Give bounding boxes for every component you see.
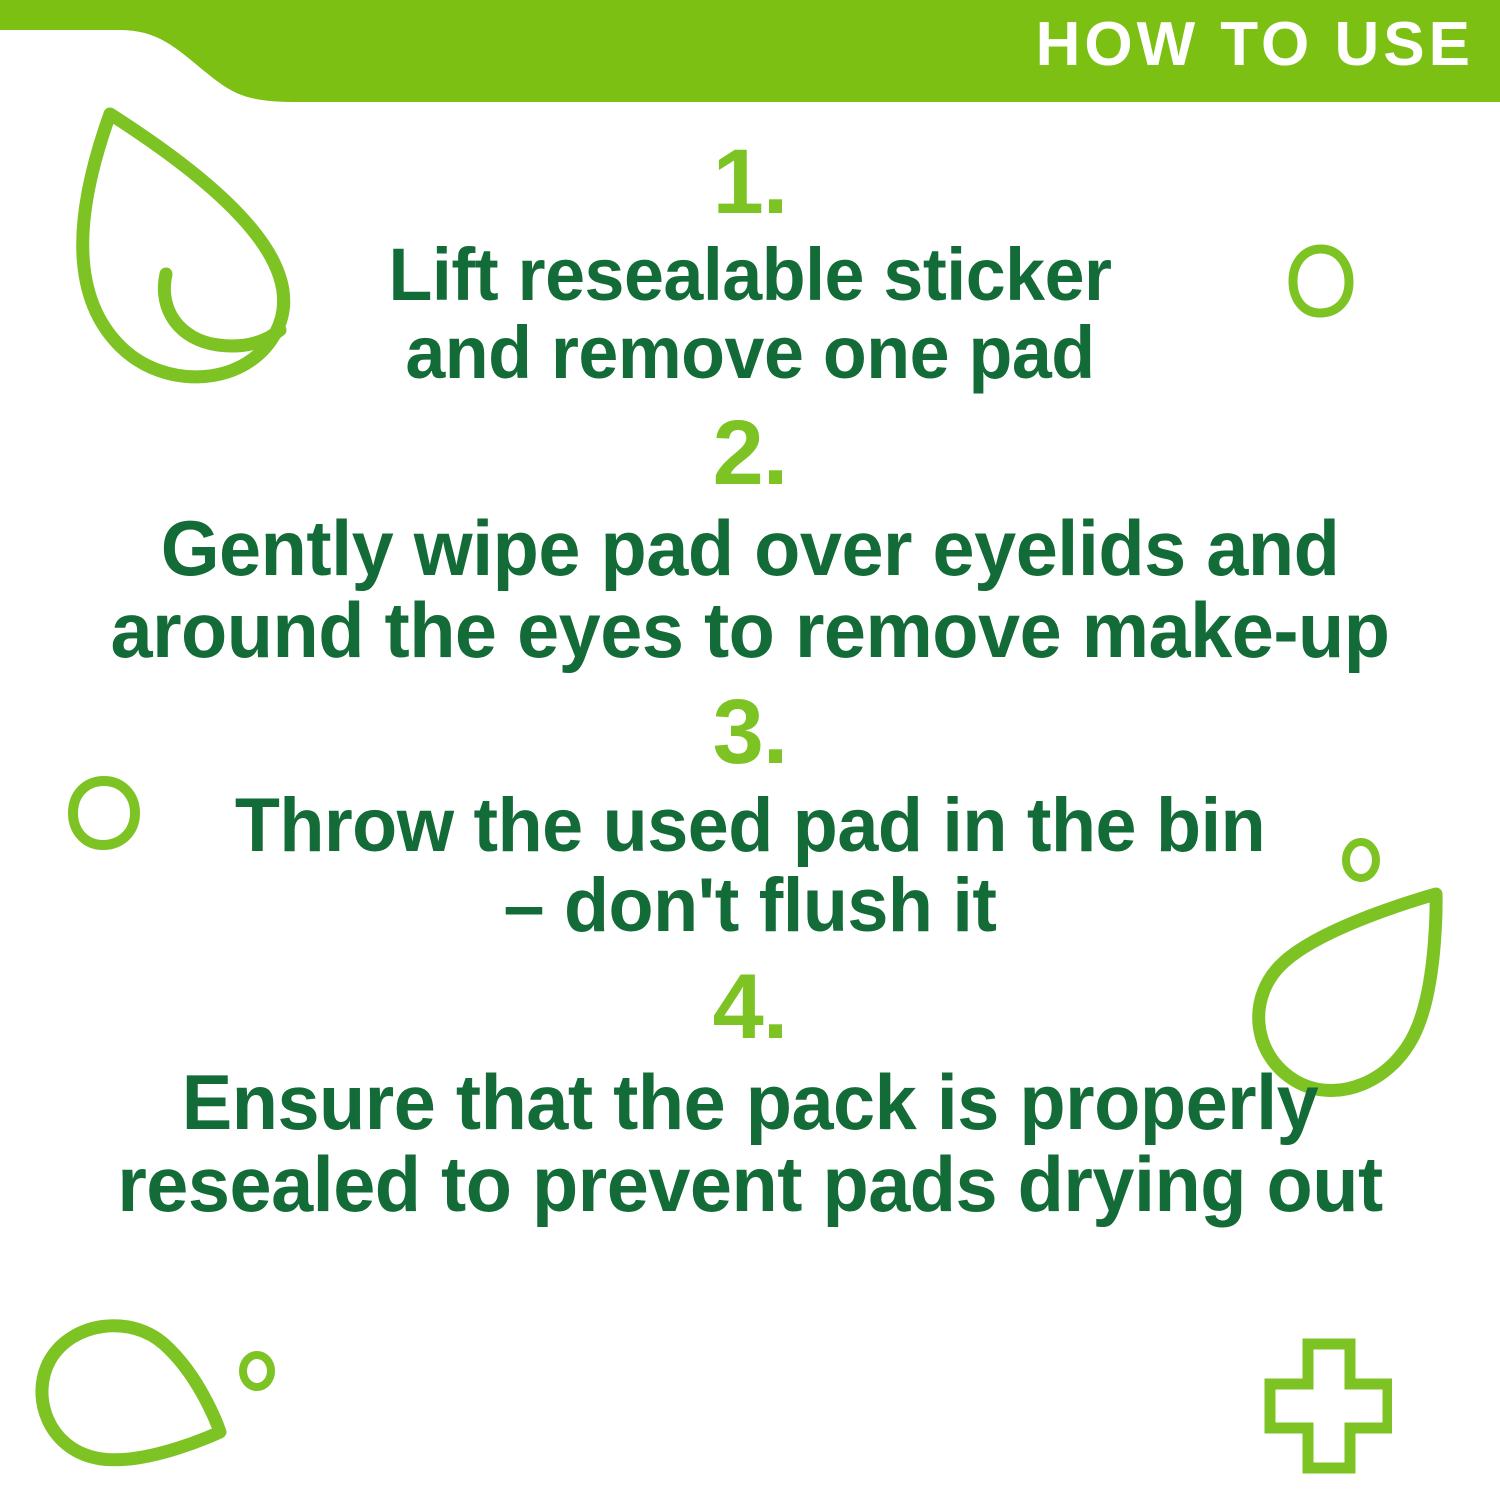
step-item: 4. Ensure that the pack is properly rese… [0, 961, 1500, 1226]
step-item: 3. Throw the used pad in the bin – don't… [0, 686, 1500, 947]
step-number: 2. [0, 407, 1500, 501]
step-number: 1. [0, 136, 1500, 230]
step-text: Gently wipe pad over eyelids and around … [23, 501, 1478, 672]
small-ring-icon [236, 1348, 278, 1394]
step-item: 2. Gently wipe pad over eyelids and arou… [0, 407, 1500, 672]
step-number: 4. [0, 961, 1500, 1055]
step-number: 3. [0, 686, 1500, 780]
leaf-icon [34, 1312, 284, 1492]
step-item: 1. Lift resealable sticker and remove on… [0, 136, 1500, 393]
step-text: Lift resealable sticker and remove one p… [23, 230, 1478, 393]
step-text: Ensure that the pack is properly reseale… [23, 1055, 1478, 1226]
steps-list: 1. Lift resealable sticker and remove on… [0, 136, 1500, 1226]
how-to-use-panel: HOW TO USE 1. Lift resealable sticke [0, 0, 1500, 1500]
step-text: Throw the used pad in the bin – don't fl… [23, 780, 1478, 947]
plus-cross-icon [1262, 1336, 1392, 1476]
page-title: HOW TO USE [1036, 14, 1474, 76]
